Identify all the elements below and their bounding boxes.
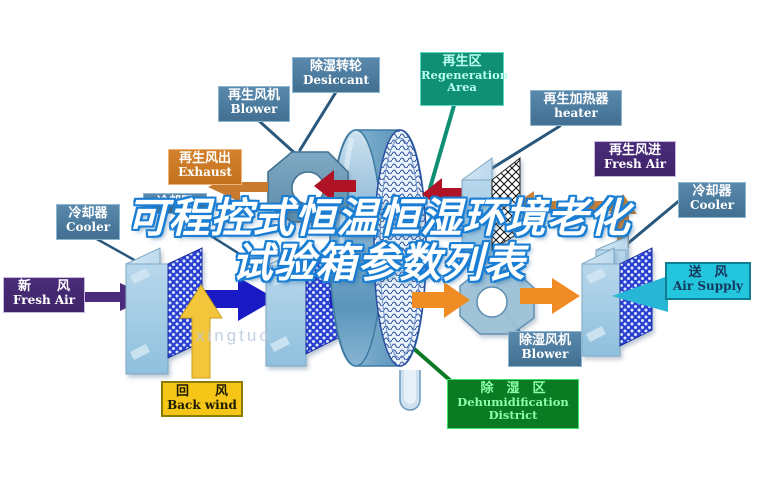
label-regeneration-fresh-air-in: 再生风进 Fresh Air bbox=[594, 141, 676, 177]
condensate-drain bbox=[400, 370, 420, 410]
label-exhaust: 再生风出 Exhaust bbox=[168, 149, 242, 185]
regeneration-heater-coil bbox=[462, 158, 520, 262]
label-desiccant-rotor-en: Desiccant bbox=[293, 74, 379, 87]
label-regeneration-fresh-air-in-cn: 再生风进 bbox=[595, 144, 675, 158]
label-dehumidify-blower: 除湿风机 Blower bbox=[508, 331, 582, 367]
label-dehumidify-blower-en: Blower bbox=[509, 348, 581, 361]
label-cooler-left-en: Cooler bbox=[57, 221, 119, 234]
label-regeneration-fresh-air-in-en: Fresh Air bbox=[595, 158, 675, 171]
label-regeneration-heater-en: heater bbox=[531, 107, 621, 120]
desiccant-wheel bbox=[330, 130, 426, 366]
label-exhaust-en: Exhaust bbox=[169, 166, 241, 179]
cooler-coil-mid bbox=[266, 250, 338, 366]
label-desiccant-rotor-cn: 除湿转轮 bbox=[293, 60, 379, 74]
label-cooler-left-cn: 冷却器 bbox=[57, 207, 119, 221]
label-fresh-air-in: 新 风 Fresh Air bbox=[3, 277, 85, 313]
label-regeneration-area-en: Regeneration Area bbox=[421, 69, 503, 94]
label-cooler-upper-cn: 冷却哭 bbox=[144, 195, 206, 208]
label-exhaust-cn: 再生风出 bbox=[169, 152, 241, 166]
label-fresh-air-in-en: Fresh Air bbox=[4, 294, 84, 307]
label-air-supply: 送 风 Air Supply bbox=[665, 262, 751, 300]
label-regeneration-area: 再生区 Regeneration Area bbox=[420, 52, 504, 106]
label-dehumidify-blower-cn: 除湿风机 bbox=[509, 334, 581, 348]
label-air-supply-en: Air Supply bbox=[667, 280, 749, 293]
label-regeneration-blower: 再生风机 Blower bbox=[218, 86, 290, 122]
label-back-wind-cn: 回 风 bbox=[163, 385, 241, 399]
label-cooler-right: 冷却器 Cooler bbox=[678, 182, 746, 218]
label-fresh-air-in-cn: 新 风 bbox=[4, 280, 84, 294]
label-back-wind: 回 风 Back wind bbox=[161, 381, 243, 417]
label-regeneration-heater-cn: 再生加热器 bbox=[531, 93, 621, 107]
label-regeneration-heater: 再生加热器 heater bbox=[530, 90, 622, 126]
arrow-regen-air-feed bbox=[512, 191, 618, 221]
watermark-text: xingtuo bbox=[196, 326, 272, 346]
diagram-canvas: 除湿转轮 Desiccant 再生风机 Blower 再生区 Regenerat… bbox=[0, 0, 757, 488]
label-cooler-upper: 冷却哭 bbox=[143, 193, 207, 214]
label-cooler-right-cn: 冷却器 bbox=[679, 185, 745, 199]
label-back-wind-en: Back wind bbox=[163, 399, 241, 412]
label-regeneration-blower-en: Blower bbox=[219, 103, 289, 116]
label-air-supply-cn: 送 风 bbox=[667, 266, 749, 280]
label-desiccant-rotor: 除湿转轮 Desiccant bbox=[292, 57, 380, 93]
label-cooler-right-en: Cooler bbox=[679, 199, 745, 212]
label-dehumidification-district-cn: 除 湿 区 bbox=[448, 382, 578, 396]
label-regeneration-area-cn: 再生区 bbox=[421, 55, 503, 69]
label-regeneration-blower-cn: 再生风机 bbox=[219, 89, 289, 103]
label-cooler-left: 冷却器 Cooler bbox=[56, 204, 120, 240]
label-dehumidification-district-en: Dehumidification District bbox=[448, 396, 578, 422]
label-dehumidification-district: 除 湿 区 Dehumidification District bbox=[447, 379, 579, 429]
